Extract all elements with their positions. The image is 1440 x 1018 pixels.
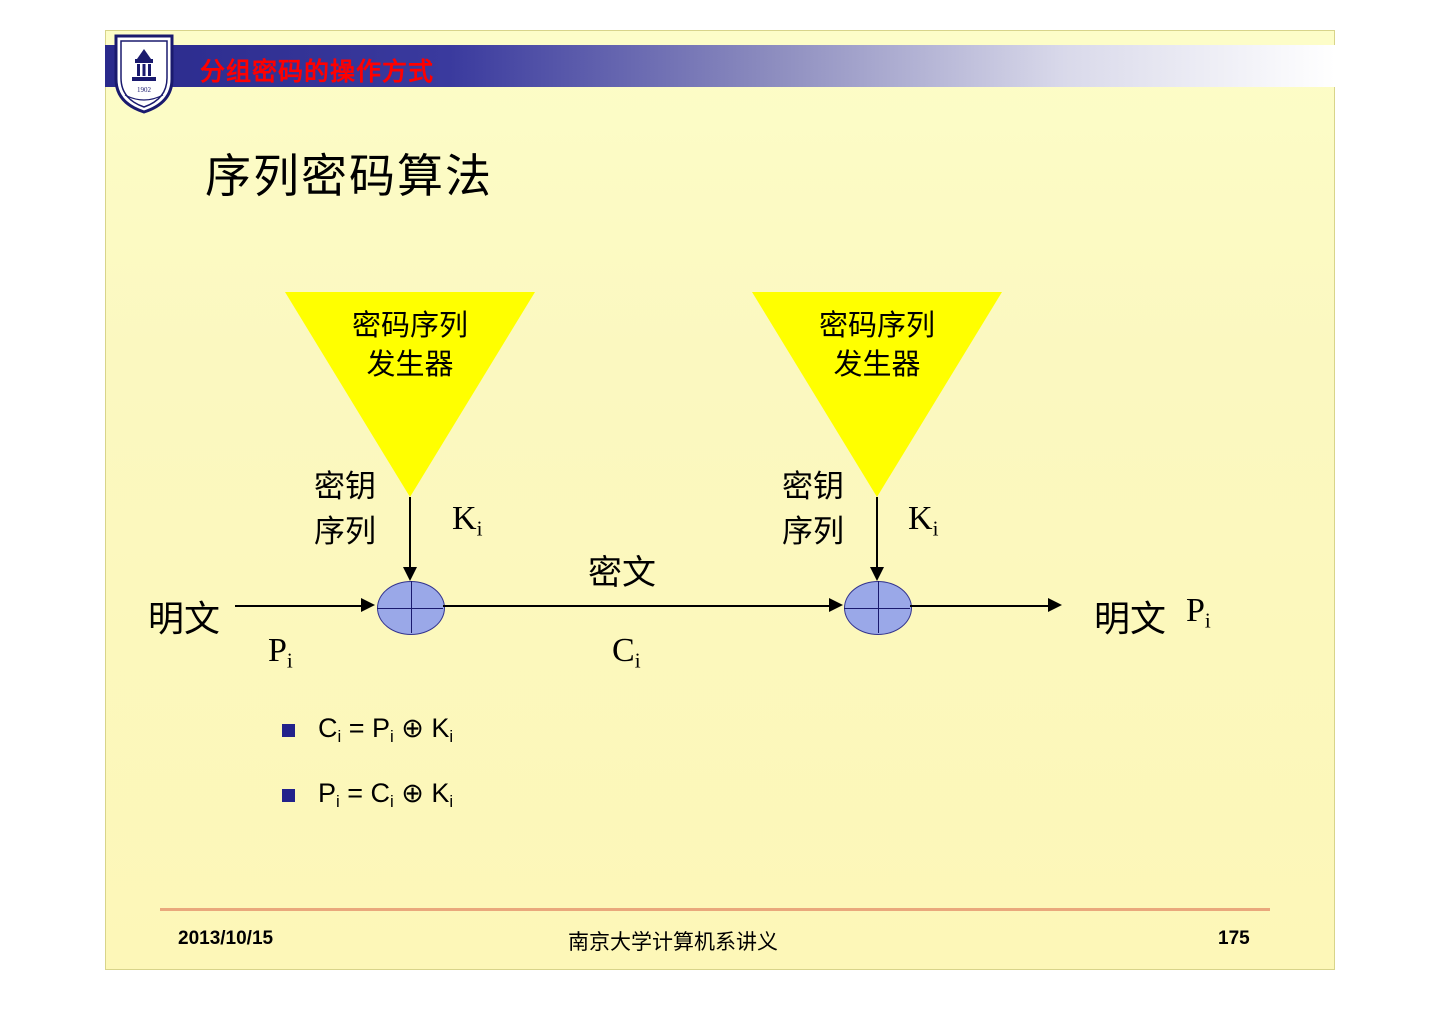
k-label-left: Ki	[452, 500, 482, 541]
key-arrowhead-left	[403, 567, 417, 581]
ciphertext-line	[443, 605, 831, 607]
keystream-label-right: 密钥 序列	[758, 465, 868, 555]
bullet-item-1: Ci = Pi ⊕ Ki	[318, 713, 453, 747]
key-arrowhead-right	[870, 567, 884, 581]
page-title: 序列密码算法	[205, 140, 493, 206]
plaintext-arrowhead-out	[1048, 598, 1062, 612]
plaintext-in-label: 明文	[148, 590, 220, 642]
p-out-label: Pi	[1186, 592, 1211, 633]
ciphertext-arrowhead	[829, 598, 843, 612]
key-line-right	[876, 497, 878, 569]
footer-date: 2013/10/15	[178, 928, 273, 950]
plaintext-arrowhead-in	[361, 598, 375, 612]
keystream-label-left: 密钥 序列	[290, 465, 400, 555]
bullet-marker-2	[282, 789, 295, 802]
keystream-generator-right-label: 密码序列 发生器	[752, 306, 1002, 384]
plaintext-out-label: 明文	[1094, 590, 1166, 642]
nanjing-university-shield-icon: 1902	[113, 33, 175, 115]
xor-gate-right	[844, 581, 912, 635]
plaintext-line-in	[235, 605, 363, 607]
key-line-left	[409, 497, 411, 569]
k-label-right: Ki	[908, 500, 938, 541]
c-mid-label: Ci	[612, 632, 641, 673]
bullet-marker-1	[282, 724, 295, 737]
footer-divider	[160, 908, 1270, 911]
keystream-generator-left-label: 密码序列 发生器	[285, 306, 535, 384]
footer-center-text: 南京大学计算机系讲义	[568, 926, 778, 956]
footer-page-number: 175	[1218, 928, 1250, 950]
p-in-label: Pi	[268, 632, 293, 673]
plaintext-line-out	[910, 605, 1050, 607]
ciphertext-label: 密文	[588, 545, 656, 594]
xor-gate-left	[377, 581, 445, 635]
bullet-item-2: Pi = Ci ⊕ Ki	[318, 778, 453, 812]
header-title: 分组密码的操作方式	[200, 52, 434, 88]
svg-text:1902: 1902	[137, 86, 152, 94]
